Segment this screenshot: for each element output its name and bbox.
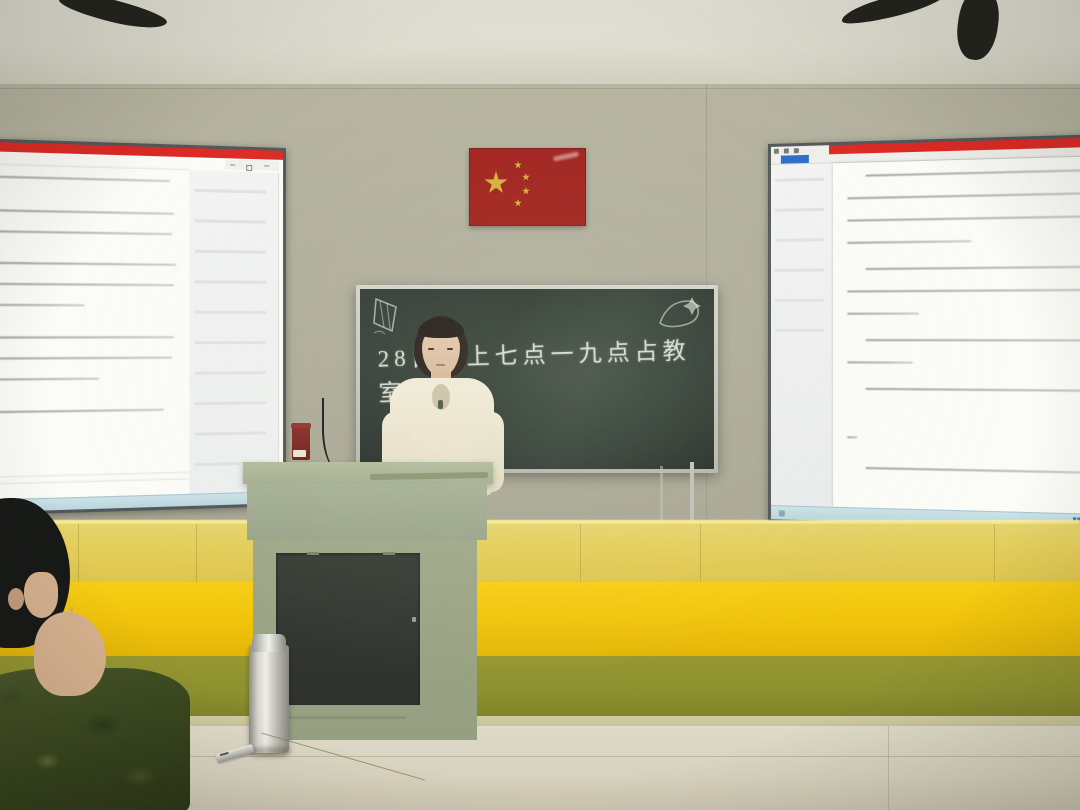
presenter-eye [428,348,434,350]
panel-seam [580,524,581,582]
pen-clip [220,752,229,756]
doc-line [847,313,919,315]
doc-line [0,283,174,286]
doc-line [866,467,1080,474]
taskbar-icon[interactable] [779,510,785,516]
presenter-hair-front [418,318,464,338]
floor-tile-line [888,726,889,810]
thermos-cap [252,634,286,652]
left-screen-content [0,141,283,512]
pane-row [775,208,825,212]
ribbon-tab-pagelayout[interactable] [849,153,873,162]
save-icon[interactable] [774,149,779,154]
doc-line [847,361,913,363]
pane-row [195,250,266,254]
doc-line [0,209,174,215]
wall-seam [0,88,1080,89]
doc-line [0,409,164,413]
pane-row [195,371,266,375]
doc-line [847,215,1080,222]
panel-seam [78,524,79,582]
red-cup-label [293,450,306,457]
flag-star-small [514,199,522,207]
doc-line [866,388,1080,392]
pane-row [775,268,825,271]
doc-line [866,339,1080,341]
lectern-panel-clip [307,552,319,555]
doc-line [0,378,99,381]
pane-row [775,329,825,332]
pane-row [195,401,266,405]
doc-line [0,357,172,360]
ribbon-tab-review[interactable] [921,151,946,160]
flag-star-small [522,187,530,195]
doc-line [847,192,1080,200]
right-screen-content [771,137,1080,530]
acoustic-wall-panels [0,524,1080,582]
left-projection-screen[interactable] [0,138,286,516]
panel-seam [196,524,197,582]
ribbon-tab-reference[interactable] [882,152,913,161]
lectern-body [247,484,487,540]
presenter-eye [447,348,453,350]
china-national-flag [469,148,586,226]
doc-line [0,175,170,182]
pane-row [775,299,825,302]
flag-star-small [514,161,522,169]
panel-seam [700,524,701,582]
ceiling-fan-right [830,0,1080,70]
ribbon-tab-section[interactable] [988,149,1014,158]
foreground-student-cheek [24,572,58,618]
lectern-panel-latch [412,617,416,622]
left-window-controls[interactable] [225,159,279,171]
close-icon[interactable] [264,165,269,166]
doc-line [0,262,176,266]
foreground-student-uniform [0,668,190,810]
right-projection-screen[interactable] [768,133,1080,532]
pane-row [195,189,266,194]
doc-line [0,230,172,235]
pane-row [195,219,266,223]
flag-star-large [484,171,508,195]
presenter-necklace [438,400,443,409]
redo-icon[interactable] [794,148,799,153]
bright-yellow-band [0,582,1080,656]
ceiling-fan-left [30,0,160,48]
lectern-front-panel [276,553,420,705]
doc-line [847,436,857,438]
right-document-page [833,156,1080,515]
ribbon-tab-view[interactable] [954,150,979,159]
steel-thermos [249,645,289,753]
pane-row [195,280,266,284]
ribbon-tab-home[interactable] [781,155,809,164]
doc-line [0,304,85,306]
right-nav-pane[interactable] [771,163,834,507]
doc-line [847,240,971,244]
undo-icon[interactable] [784,148,789,153]
flag-star-small [522,173,530,181]
maximize-icon[interactable] [246,165,252,171]
presenter-mouth [436,364,445,366]
foreground-student-ear [8,588,24,610]
flag-glare [553,151,579,161]
lectern-ledge [286,716,406,719]
pane-row [195,431,266,435]
panel-seam [994,524,995,582]
doc-line [866,168,1080,176]
ribbon-tab-insert[interactable] [817,154,841,163]
classroom-photo: 28日晚上七点一九点占教室 [0,0,1080,810]
doc-line [847,289,1080,293]
lectern-panel-clip [383,552,395,555]
pane-row [195,341,266,344]
minimize-icon[interactable] [230,164,235,165]
doc-line [866,266,1080,271]
pane-row [195,311,266,314]
pane-row [775,178,825,182]
pane-row [775,238,825,242]
left-document-page [0,164,190,476]
doc-line [0,336,174,338]
red-cup-lid [291,423,311,428]
